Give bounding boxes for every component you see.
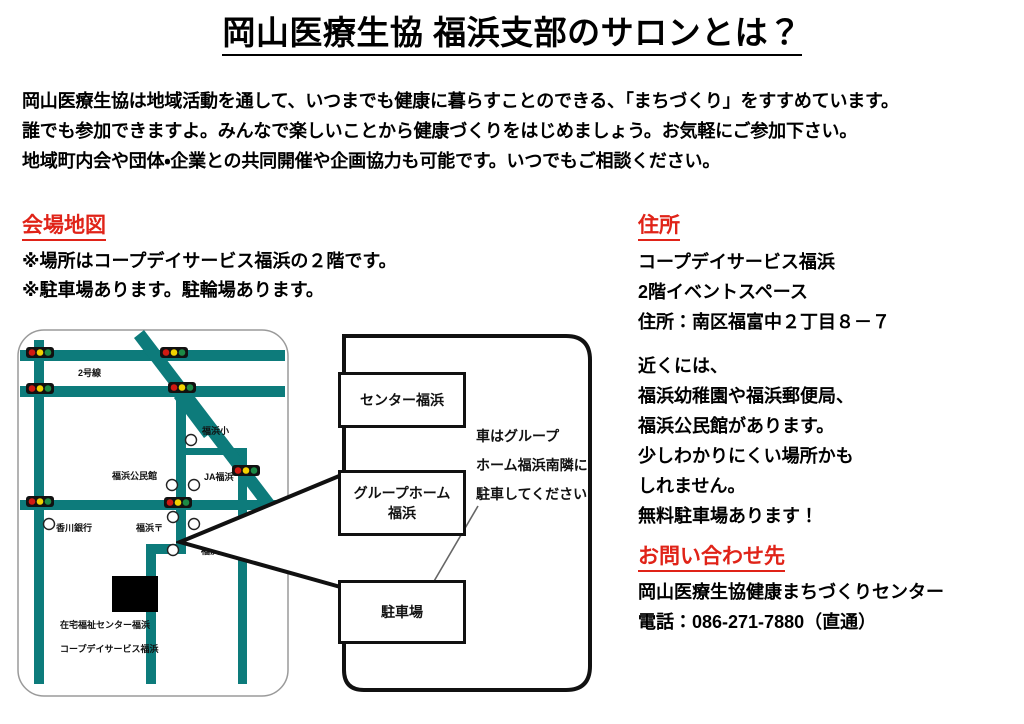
venue-map-heading: 会場地図 (22, 214, 106, 241)
callout-box-center-label: センター福浜 (360, 390, 444, 410)
intro-line-2: 誰でも参加できますよ。みんなで楽しいことから健康づくりをはじめましょう。お気軽に… (22, 116, 1002, 146)
poi-marker (44, 519, 55, 530)
nearby-line-4: 少しわかりにくい場所かも (638, 441, 1024, 471)
page-title-text: 岡山医療生協 福浜支部のサロンとは？ (222, 14, 801, 56)
contact-heading: お問い合わせ先 (638, 545, 785, 572)
traffic-light-icon (26, 496, 54, 507)
callout-box-group-home: グループホーム 福浜 (338, 470, 466, 536)
map-label-post-office: 福浜〒 (135, 522, 163, 533)
map-label-kagawa-bank: 香川銀行 (55, 522, 92, 533)
contact-heading-wrap: お問い合わせ先 (638, 545, 1024, 572)
map-label-welfare-center: 在宅福祉センター福浜 (60, 619, 150, 630)
address-line-2: 2階イベントスペース (638, 277, 1024, 307)
intro-line-3: 地域町内会や団体・企業との共同開催や企画協力も可能です。いつでもご相談ください。 (22, 146, 1002, 176)
contact-line-2: 電話：086-271-7880（直通） (638, 607, 1024, 637)
map-label-route2: 2号線 (78, 367, 102, 378)
venue-building-block (112, 576, 158, 612)
building-layout-callout: センター福浜 グループホーム 福浜 駐車場 車はグループ ホーム福浜南隣に 駐車… (176, 330, 604, 700)
callout-box-center-fukuhama: センター福浜 (338, 372, 466, 428)
car-note-line-2: ホーム福浜南隣に (476, 451, 598, 480)
contact-line-1: 岡山医療生協健康まちづくりセンター (638, 577, 1024, 607)
map-label-kominkan: 福浜公民館 (111, 470, 157, 481)
venue-note-1: ※場所はコープデイサービス福浜の２階です。 (22, 247, 622, 276)
nearby-line-1: 近くには、 (638, 351, 1024, 381)
callout-box-group-label-1: グループホーム (354, 483, 451, 503)
nearby-line-6: 無料駐車場あります！ (638, 501, 1024, 531)
venue-map-heading-wrap: 会場地図 (22, 214, 622, 241)
map-label-coop-day-service: コープデイサービス福浜 (60, 643, 158, 654)
car-note-line-1: 車はグループ (476, 422, 598, 451)
spacer (638, 337, 1024, 351)
address-line-1: コープデイサービス福浜 (638, 247, 1024, 277)
callout-box-parking-label: 駐車場 (381, 602, 423, 622)
callout-box-group-label-2: 福浜 (354, 503, 451, 523)
venue-note-2: ※駐車場あります。駐輪場あります。 (22, 276, 622, 305)
venue-map-section: 会場地図 ※場所はコープデイサービス福浜の２階です。 ※駐車場あります。駐輪場あ… (22, 214, 622, 305)
nearby-line-5: しれません。 (638, 471, 1024, 501)
intro-paragraph: 岡山医療生協は地域活動を通して、いつまでも健康に暮らすことのできる、「まちづくり… (22, 86, 1002, 176)
nearby-line-3: 福浜公民館があります。 (638, 411, 1024, 441)
traffic-light-icon (26, 347, 54, 358)
intro-line-1: 岡山医療生協は地域活動を通して、いつまでも健康に暮らすことのできる、「まちづくり… (22, 86, 1002, 116)
address-heading-wrap: 住所 (638, 214, 1024, 241)
page-title: 岡山医療生協 福浜支部のサロンとは？ (0, 12, 1024, 53)
address-line-3: 住所：南区福富中２丁目８－７ (638, 307, 1024, 337)
spacer (638, 531, 1024, 545)
car-note-line-3: 駐車してください (476, 480, 598, 509)
road-vertical-center (146, 544, 156, 684)
callout-car-note: 車はグループ ホーム福浜南隣に 駐車してください (476, 422, 598, 509)
address-contact-section: 住所 コープデイサービス福浜 2階イベントスペース 住所：南区福富中２丁目８－７… (638, 214, 1024, 637)
callout-box-parking: 駐車場 (338, 580, 466, 644)
address-heading: 住所 (638, 214, 680, 241)
nearby-line-2: 福浜幼稚園や福浜郵便局、 (638, 381, 1024, 411)
traffic-light-icon (26, 383, 54, 394)
